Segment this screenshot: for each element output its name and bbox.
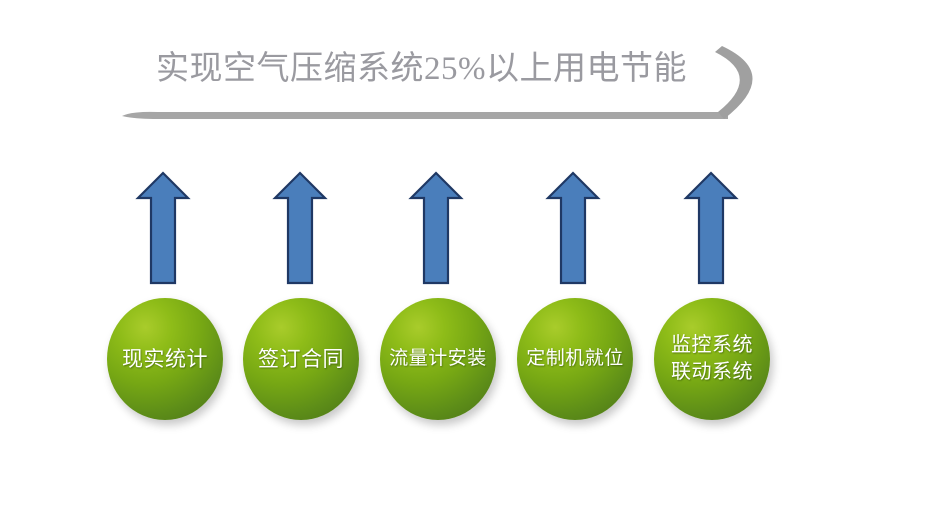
arrow-up-icon-2: [272, 170, 328, 288]
process-step-5[interactable]: 监控系统 联动系统: [654, 298, 770, 420]
title-banner: 实现空气压缩系统25%以上用电节能: [118, 32, 778, 124]
arrow-up-icon-1: [135, 170, 191, 288]
process-step-label: 定制机就位: [522, 345, 628, 373]
arrow-up-icon-4: [545, 170, 601, 288]
page-title: 实现空气压缩系统25%以上用电节能: [156, 46, 756, 92]
arrow-up-icon-5: [683, 170, 739, 288]
arrow-row: [135, 170, 800, 290]
process-step-label: 流量计安装: [385, 345, 491, 373]
arrow-up-icon-3: [408, 170, 464, 288]
process-step-2[interactable]: 签订合同: [243, 298, 359, 420]
process-step-1[interactable]: 现实统计: [107, 298, 223, 420]
process-step-label: 签订合同: [254, 345, 348, 373]
process-step-row: 现实统计 签订合同 流量计安装 定制机就位 监控系统 联动系统: [135, 298, 800, 423]
frame-bottom-line: [122, 112, 728, 119]
process-step-label: 监控系统 联动系统: [667, 332, 757, 386]
process-step-label: 现实统计: [118, 345, 212, 373]
process-step-4[interactable]: 定制机就位: [517, 298, 633, 420]
process-step-3[interactable]: 流量计安装: [380, 298, 496, 420]
